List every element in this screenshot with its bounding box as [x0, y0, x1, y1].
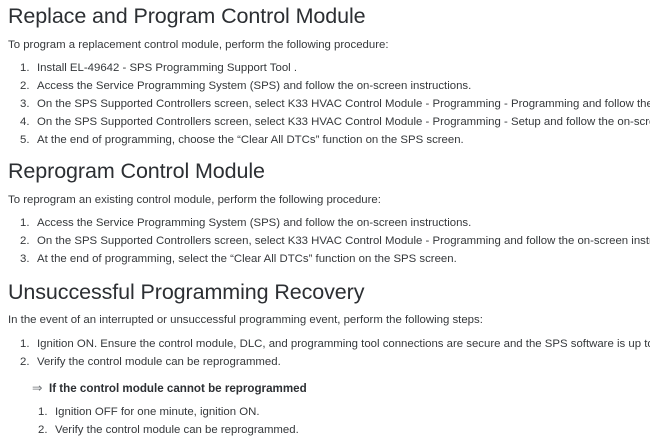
subsection-step-list: Ignition OFF for one minute, ignition ON…	[8, 406, 644, 437]
list-item: Verify the control module can be reprogr…	[8, 356, 644, 369]
list-item: Ignition ON. Ensure the control module, …	[8, 338, 644, 351]
list-item: Ignition OFF for one minute, ignition ON…	[8, 406, 644, 419]
subsection-heading-label: If the control module cannot be reprogra…	[49, 382, 307, 395]
list-item: On the SPS Supported Controllers screen,…	[8, 235, 644, 248]
subsection-cannot-be-reprogrammed: ⇒ If the control module cannot be reprog…	[8, 382, 644, 437]
procedure-step-list: Ignition ON. Ensure the control module, …	[8, 338, 644, 369]
list-item: Verify the control module can be reprogr…	[8, 424, 644, 437]
section-replace-and-program-control-module: Replace and Program Control Module To pr…	[8, 5, 644, 147]
section-unsuccessful-programming-recovery: Unsuccessful Programming Recovery In the…	[8, 281, 644, 437]
list-item: At the end of programming, choose the “C…	[8, 134, 644, 147]
section-reprogram-control-module: Reprogram Control Module To reprogram an…	[8, 160, 644, 266]
list-item: Access the Service Programming System (S…	[8, 217, 644, 230]
section-intro: To reprogram an existing control module,…	[8, 193, 644, 208]
list-item: Access the Service Programming System (S…	[8, 80, 644, 93]
section-heading: Reprogram Control Module	[8, 160, 644, 184]
procedure-step-list: Access the Service Programming System (S…	[8, 217, 644, 266]
subsection-heading: ⇒ If the control module cannot be reprog…	[8, 382, 644, 396]
list-item: On the SPS Supported Controllers screen,…	[8, 98, 644, 111]
section-heading: Unsuccessful Programming Recovery	[8, 281, 644, 305]
list-item: Install EL-49642 - SPS Programming Suppo…	[8, 62, 644, 75]
rightwards-double-arrow-icon: ⇒	[32, 381, 42, 396]
list-item: On the SPS Supported Controllers screen,…	[8, 116, 644, 129]
section-intro: To program a replacement control module,…	[8, 38, 644, 53]
document-page: Replace and Program Control Module To pr…	[0, 0, 650, 409]
section-intro: In the event of an interrupted or unsucc…	[8, 313, 644, 328]
list-item: At the end of programming, select the “C…	[8, 253, 644, 266]
section-heading: Replace and Program Control Module	[8, 5, 644, 29]
procedure-step-list: Install EL-49642 - SPS Programming Suppo…	[8, 62, 644, 147]
